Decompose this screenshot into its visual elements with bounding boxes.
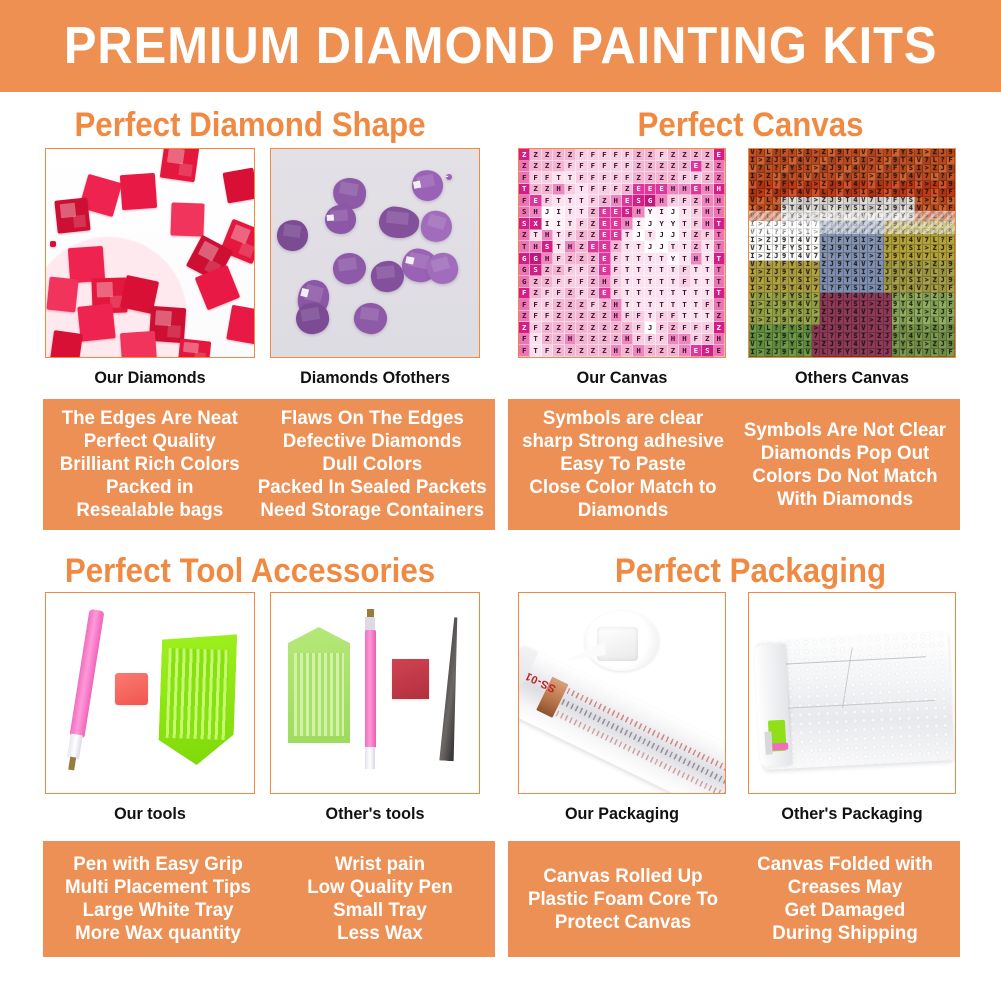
canvas-cell: Z	[530, 288, 541, 300]
canvas-cell: E	[599, 253, 610, 265]
canvas-cell: T	[656, 288, 667, 300]
pro-item: The Edges Are Neat	[62, 407, 238, 430]
canvas-cell: F	[611, 149, 622, 161]
gem-body	[50, 241, 56, 247]
canvas-cell: E	[611, 218, 622, 230]
canvas-cell: H	[611, 311, 622, 323]
diamond-gem	[50, 330, 83, 358]
canvas-cell: F	[702, 230, 713, 242]
canvas-cell: T	[691, 276, 702, 288]
tray-grooves	[294, 653, 344, 737]
canvas-cell: L	[820, 349, 828, 357]
canvas-cell: Z	[542, 322, 553, 334]
con-item: Need Storage Containers	[260, 499, 484, 522]
tray-green-small	[288, 627, 350, 743]
canvas-cell: 7	[812, 349, 820, 357]
canvas-cell: H	[679, 184, 690, 196]
canvas-cell: H	[668, 334, 679, 346]
gem-body	[120, 331, 157, 358]
canvas-grid-ours: ZZZZZFFFFFZZFZZZZEZZZZFFFFFFZZZZZEZZFFFT…	[519, 149, 725, 357]
canvas-cell: Z	[576, 322, 587, 334]
canvas-cell: Z	[599, 334, 610, 346]
our-packaging-art: SS-011	[519, 593, 725, 793]
canvas-cell: E	[714, 345, 725, 357]
canvas-cell: Z	[576, 253, 587, 265]
caption-other-packaging: Other's Packaging	[753, 805, 951, 822]
canvas-cell: H	[530, 241, 541, 253]
panel-packaging-cons: Canvas Folded with Creases May Get Damag…	[738, 847, 951, 951]
canvas-cell: T	[668, 276, 679, 288]
canvas-cell: E	[599, 241, 610, 253]
canvas-cell: F	[679, 322, 690, 334]
canvas-cell: Z	[542, 184, 553, 196]
panel-tool-accessories: Pen with Easy Grip Multi Placement Tips …	[43, 841, 495, 957]
canvas-grid-others: V7L?FYSI>ZJ9T4V7L?FYSI>ZJ9I>ZJ9T4V7L?FYS…	[749, 149, 955, 357]
canvas-cell: Z	[576, 345, 587, 357]
diamond-gem	[170, 203, 204, 237]
canvas-cell: T	[622, 299, 633, 311]
canvas-cell: T	[645, 276, 656, 288]
canvas-cell: I	[553, 207, 564, 219]
canvas-cell: T	[565, 195, 576, 207]
canvas-cell: Z	[576, 311, 587, 323]
canvas-cell: F	[576, 288, 587, 300]
canvas-cell: Z	[668, 161, 679, 173]
canvas-cell: Z	[576, 230, 587, 242]
canvas-cell: Z	[565, 345, 576, 357]
section-title-tool-accessories: Perfect Tool Accessories	[20, 554, 480, 588]
gem-facet	[194, 353, 206, 358]
canvas-cell: Z	[599, 311, 610, 323]
canvas-cell: Z	[542, 161, 553, 173]
canvas-cell: T	[576, 184, 587, 196]
pro-item: Packed in	[106, 476, 193, 499]
canvas-cell: H	[530, 207, 541, 219]
pro-item: Easy To Paste	[560, 453, 686, 476]
canvas-cell: Z	[553, 334, 564, 346]
canvas-cell: T	[530, 334, 541, 346]
canvas-cell: E	[691, 161, 702, 173]
con-item: Wrist pain	[335, 853, 425, 876]
canvas-cell: J	[542, 207, 553, 219]
canvas-cell: Z	[576, 241, 587, 253]
canvas-cell: S	[519, 218, 530, 230]
panel-canvas-cons: Symbols Are Not Clear Diamonds Pop Out C…	[738, 405, 951, 524]
canvas-cell: S	[519, 207, 530, 219]
canvas-cell: F	[530, 299, 541, 311]
canvas-cell: F	[542, 311, 553, 323]
canvas-cell: J	[645, 241, 656, 253]
con-item: Packed In Sealed Packets	[257, 476, 486, 499]
canvas-cell: S	[530, 265, 541, 277]
canvas-cell: Z	[633, 172, 644, 184]
canvas-cell: Z	[702, 161, 713, 173]
diamond-gem-deformed	[324, 204, 357, 235]
canvas-cell: F	[611, 265, 622, 277]
canvas-cell: E	[611, 230, 622, 242]
canvas-cell: T	[645, 265, 656, 277]
canvas-cell: Z	[553, 322, 564, 334]
canvas-cell: T	[679, 230, 690, 242]
canvas-cell: F	[633, 334, 644, 346]
canvas-cell: F	[519, 345, 530, 357]
pro-item: Brilliant Rich Colors	[60, 453, 240, 476]
canvas-cell: F	[691, 218, 702, 230]
canvas-cell: I	[542, 218, 553, 230]
canvas-cell: T	[633, 265, 644, 277]
purple-diamonds-art	[271, 149, 479, 357]
con-item: Dull Colors	[322, 453, 422, 476]
canvas-cell: Z	[530, 184, 541, 196]
canvas-cell: F	[565, 161, 576, 173]
canvas-cell: T	[679, 253, 690, 265]
canvas-cell: F	[622, 149, 633, 161]
canvas-cell: F	[611, 184, 622, 196]
gem-facet	[167, 148, 185, 164]
canvas-cell: Z	[530, 161, 541, 173]
canvas-cell: S	[622, 207, 633, 219]
canvas-cell: F	[519, 299, 530, 311]
gem-body	[78, 303, 117, 342]
canvas-cell: Z	[622, 184, 633, 196]
canvas-cell: E	[611, 207, 622, 219]
canvas-cell: Z	[645, 149, 656, 161]
photo-our-packaging: SS-011	[518, 592, 726, 794]
diamond-gem-deformed	[352, 301, 389, 336]
canvas-cell: G	[519, 253, 530, 265]
con-item: Get Damaged	[785, 899, 906, 922]
bubble-mailer	[758, 632, 954, 770]
canvas-cell: F	[542, 195, 553, 207]
canvas-cell: Y	[668, 218, 679, 230]
pro-item: Large White Tray	[83, 899, 234, 922]
diamond-gem-deformed	[293, 300, 331, 336]
canvas-cell: Z	[611, 322, 622, 334]
canvas-cell: T	[519, 241, 530, 253]
canvas-cell: F	[702, 299, 713, 311]
canvas-cell: F	[530, 311, 541, 323]
canvas-cell: T	[702, 253, 713, 265]
pen-cap	[365, 747, 375, 769]
canvas-cell: Z	[702, 172, 713, 184]
canvas-cell: T	[645, 230, 656, 242]
canvas-cell: F	[622, 311, 633, 323]
canvas-cell: Z	[542, 334, 553, 346]
canvas-cell: F	[622, 172, 633, 184]
canvas-cell: ?	[828, 349, 836, 357]
page-title: PREMIUM DIAMOND PAINTING KITS	[64, 20, 938, 72]
diamond-gem	[46, 277, 78, 313]
con-item: Flaws On The Edges	[280, 407, 463, 430]
canvas-cell: H	[633, 207, 644, 219]
canvas-cell: 9	[781, 349, 789, 357]
canvas-cell: F	[542, 345, 553, 357]
canvas-cell: H	[622, 218, 633, 230]
canvas-cell: Z	[645, 345, 656, 357]
pro-item: Resealable bags	[76, 499, 223, 522]
canvas-cell: F	[702, 322, 713, 334]
canvas-cell: Z	[553, 345, 564, 357]
canvas-cell: Z	[542, 265, 553, 277]
canvas-cell: I	[633, 218, 644, 230]
canvas-cell: F	[691, 207, 702, 219]
photo-other-tools	[270, 592, 480, 794]
canvas-cell: Z	[588, 230, 599, 242]
canvas-cell: F	[947, 349, 955, 357]
canvas-cell: T	[553, 241, 564, 253]
panel-diamond-shape: The Edges Are Neat Perfect Quality Brill…	[43, 399, 495, 530]
canvas-cell: F	[599, 172, 610, 184]
pro-item: Canvas Rolled Up	[543, 865, 702, 888]
canvas-cell: F	[565, 230, 576, 242]
canvas-cell: J	[668, 230, 679, 242]
canvas-cell: E	[645, 184, 656, 196]
our-canvas-symbol-grid: ZZZZZFFFFFZZFZZZZEZZZZFFFFFFZZZZZEZZFFFT…	[519, 149, 725, 357]
canvas-cell: Z	[553, 299, 564, 311]
canvas-cell: Z	[519, 322, 530, 334]
canvas-cell: F	[588, 299, 599, 311]
canvas-cell: F	[668, 311, 679, 323]
canvas-cell: H	[702, 184, 713, 196]
canvas-cell: E	[599, 265, 610, 277]
canvas-cell: F	[679, 276, 690, 288]
canvas-cell: T	[668, 265, 679, 277]
caption-other-tools: Other's tools	[275, 805, 475, 822]
canvas-cell: F	[519, 288, 530, 300]
canvas-cell: H	[611, 299, 622, 311]
pen-barrel	[70, 609, 104, 738]
canvas-cell: E	[691, 184, 702, 196]
caption-our-diamonds: Our Diamonds	[50, 369, 250, 386]
gem-body	[170, 203, 204, 237]
canvas-cell: F	[599, 184, 610, 196]
canvas-cell: T	[622, 265, 633, 277]
diamond-gem	[78, 303, 117, 342]
canvas-cell: F	[530, 322, 541, 334]
canvas-cell: H	[553, 184, 564, 196]
canvas-cell: H	[702, 207, 713, 219]
canvas-cell: F	[530, 172, 541, 184]
canvas-cell: H	[599, 276, 610, 288]
canvas-cell: T	[565, 218, 576, 230]
con-item: Defective Diamonds	[282, 430, 461, 453]
canvas-cell: T	[553, 195, 564, 207]
canvas-cell: T	[714, 241, 725, 253]
canvas-cell: T	[679, 207, 690, 219]
canvas-cell: T	[656, 253, 667, 265]
canvas-cell: H	[611, 345, 622, 357]
gem-facet	[74, 214, 87, 227]
canvas-cell: Z	[714, 172, 725, 184]
canvas-cell: F	[656, 149, 667, 161]
canvas-cell: T	[633, 253, 644, 265]
caption-our-tools: Our tools	[50, 805, 250, 822]
photo-other-diamonds	[270, 148, 480, 358]
canvas-cell: F	[656, 322, 667, 334]
canvas-cell: H	[633, 345, 644, 357]
tray-green-large	[158, 632, 237, 767]
canvas-cell: F	[576, 218, 587, 230]
con-item: With Diamonds	[777, 488, 913, 511]
canvas-cell: Z	[588, 207, 599, 219]
our-tools-art	[46, 593, 254, 793]
diamond-gem	[120, 331, 157, 358]
gem-facet	[283, 223, 302, 238]
canvas-cell: Z	[588, 311, 599, 323]
canvas-cell: Z	[599, 195, 610, 207]
canvas-cell: J	[645, 322, 656, 334]
canvas-cell: Z	[588, 334, 599, 346]
canvas-cell: Z	[611, 334, 622, 346]
canvas-cell: Z	[588, 265, 599, 277]
panel-diamond-shape-pros: The Edges Are Neat Perfect Quality Brill…	[51, 405, 248, 524]
canvas-cell: T	[519, 184, 530, 196]
canvas-cell: T	[691, 299, 702, 311]
gem-facet	[338, 257, 358, 272]
canvas-cell: T	[679, 311, 690, 323]
pro-item: Plastic Foam Core To	[528, 888, 718, 911]
canvas-cell: H	[679, 345, 690, 357]
canvas-cell: T	[565, 207, 576, 219]
canvas-cell: T	[633, 241, 644, 253]
canvas-cell: Z	[714, 161, 725, 173]
red-diamonds-art	[46, 149, 254, 357]
canvas-cell: Z	[633, 149, 644, 161]
canvas-cell: F	[565, 265, 576, 277]
canvas-cell: F	[553, 276, 564, 288]
canvas-cell: Z	[588, 322, 599, 334]
canvas-cell: Z	[668, 149, 679, 161]
con-item: Diamonds Pop Out	[761, 442, 929, 465]
canvas-cell: H	[691, 253, 702, 265]
canvas-cell: E	[530, 195, 541, 207]
canvas-cell: F	[679, 265, 690, 277]
canvas-cell: F	[668, 195, 679, 207]
canvas-cell: Z	[553, 161, 564, 173]
canvas-cell: Z	[553, 311, 564, 323]
canvas-cell: F	[622, 161, 633, 173]
canvas-cell: Z	[542, 276, 553, 288]
gem-facet	[360, 307, 380, 322]
canvas-cell: Z	[588, 345, 599, 357]
canvas-cell: Z	[576, 299, 587, 311]
canvas-cell: F	[679, 195, 690, 207]
con-item: Symbols Are Not Clear	[744, 419, 946, 442]
canvas-cell: F	[656, 311, 667, 323]
canvas-cell: I	[749, 349, 757, 357]
canvas-cell: T	[691, 288, 702, 300]
canvas-cell: E	[656, 184, 667, 196]
diamond-gem	[178, 339, 212, 358]
canvas-cell: G	[530, 253, 541, 265]
caption-our-canvas: Our Canvas	[523, 369, 721, 386]
canvas-cell: T	[714, 253, 725, 265]
canvas-cell: F	[576, 149, 587, 161]
pen-barrel	[365, 630, 376, 748]
canvas-cell: F	[519, 334, 530, 346]
pen-tip	[69, 756, 77, 770]
canvas-cell: Z	[702, 334, 713, 346]
canvas-cell: F	[553, 253, 564, 265]
canvas-cell: F	[645, 334, 656, 346]
pen-pink	[65, 609, 104, 769]
canvas-cell: T	[645, 253, 656, 265]
canvas-cell: Z	[611, 241, 622, 253]
canvas-cell: Z	[519, 311, 530, 323]
canvas-cell: S	[633, 195, 644, 207]
canvas-cell: F	[611, 253, 622, 265]
canvas-cell: >	[757, 349, 765, 357]
canvas-hatch-band	[749, 211, 955, 234]
canvas-cell: >	[868, 349, 876, 357]
infographic-page: PREMIUM DIAMOND PAINTING KITS Perfect Di…	[0, 0, 1001, 1001]
diamond-gem	[50, 241, 56, 247]
canvas-cell: T	[668, 299, 679, 311]
canvas-cell: H	[714, 184, 725, 196]
section-title-canvas: Perfect Canvas	[520, 108, 981, 142]
canvas-cell: Z	[691, 230, 702, 242]
canvas-cell: Z	[530, 276, 541, 288]
canvas-cell: F	[611, 172, 622, 184]
diamond-gem-deformed	[331, 251, 368, 287]
canvas-cell: G	[519, 265, 530, 277]
canvas-cell: ?	[939, 349, 947, 357]
canvas-cell: T	[789, 349, 797, 357]
canvas-cell: T	[565, 172, 576, 184]
canvas-cell: T	[633, 276, 644, 288]
canvas-cell: F	[691, 172, 702, 184]
canvas-cell: E	[633, 184, 644, 196]
canvas-cell: F	[576, 172, 587, 184]
canvas-cell: Z	[599, 299, 610, 311]
section-title-diamond-shape: Perfect Diamond Shape	[20, 108, 480, 142]
canvas-cell: H	[611, 195, 622, 207]
canvas-cell: Z	[565, 288, 576, 300]
canvas-cell: V	[804, 349, 812, 357]
pro-item: Protect Canvas	[555, 911, 691, 934]
canvas-cell: H	[542, 230, 553, 242]
con-item: Small Tray	[333, 899, 427, 922]
canvas-cell: X	[530, 218, 541, 230]
canvas-cell: S	[702, 345, 713, 357]
canvas-cell: F	[542, 288, 553, 300]
canvas-cell: Z	[565, 322, 576, 334]
pro-item: Pen with Easy Grip	[73, 853, 243, 876]
canvas-cell: T	[622, 276, 633, 288]
canvas-cell: 4	[797, 349, 805, 357]
canvas-cell: Z	[599, 345, 610, 357]
canvas-cell: T	[714, 276, 725, 288]
canvas-cell: H	[542, 253, 553, 265]
panel-tools-cons: Wrist pain Low Quality Pen Small Tray Le…	[273, 847, 486, 951]
canvas-cell: E	[714, 149, 725, 161]
canvas-cell: F	[565, 276, 576, 288]
caption-other-diamonds: Diamonds Ofothers	[275, 369, 475, 386]
canvas-cell: F	[553, 288, 564, 300]
canvas-cell: Z	[765, 349, 773, 357]
pro-item: More Wax quantity	[75, 922, 241, 945]
canvas-cell: F	[656, 334, 667, 346]
tray-grooves	[167, 648, 230, 740]
canvas-cell: J	[773, 349, 781, 357]
canvas-cell: F	[588, 195, 599, 207]
canvas-cell: F	[836, 349, 844, 357]
photo-others-canvas: V7L?FYSI>ZJ9T4V7L?FYSI>ZJ9I>ZJ9T4V7L?FYS…	[748, 148, 956, 358]
canvas-cell: T	[622, 241, 633, 253]
canvas-cell: F	[519, 172, 530, 184]
canvas-cell: Z	[691, 241, 702, 253]
canvas-cell: T	[622, 253, 633, 265]
